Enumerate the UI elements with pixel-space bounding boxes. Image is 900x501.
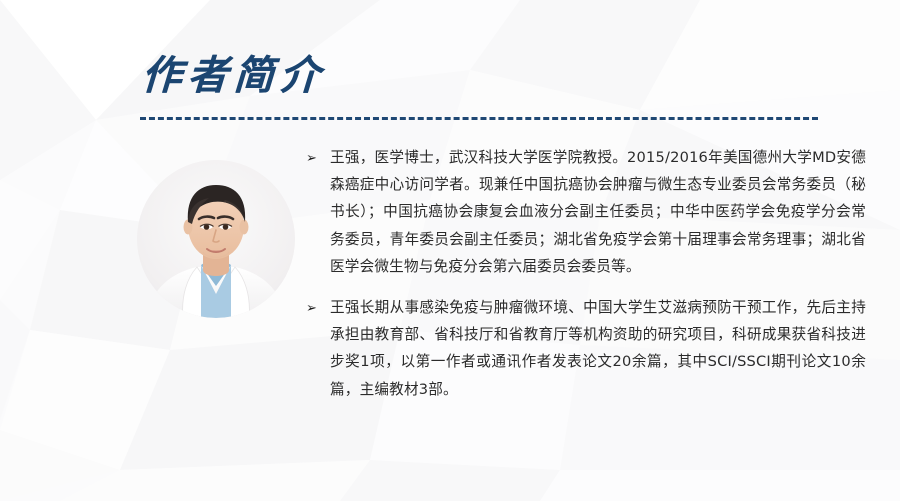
title-divider [140,117,818,120]
bio-paragraph: 王强，医学博士，武汉科技大学医学院教授。2015/2016年美国德州大学MD安德… [330,144,866,280]
author-bio-list: ➢ 王强，医学博士，武汉科技大学医学院教授。2015/2016年美国德州大学MD… [306,144,866,417]
slide-root: 作者简介 [0,0,900,501]
bio-bullet-item: ➢ 王强，医学博士，武汉科技大学医学院教授。2015/2016年美国德州大学MD… [306,144,866,280]
author-portrait-avatar [137,160,295,318]
arrow-bullet-icon: ➢ [306,294,330,321]
portrait-illustration [137,160,295,318]
bio-paragraph: 王强长期从事感染免疫与肿瘤微环境、中国大学生艾滋病预防干预工作，先后主持承担由教… [330,294,866,403]
page-title: 作者简介 [140,48,843,104]
title-block: 作者简介 [140,48,840,104]
arrow-bullet-icon: ➢ [306,144,330,171]
bio-bullet-item: ➢ 王强长期从事感染免疫与肿瘤微环境、中国大学生艾滋病预防干预工作，先后主持承担… [306,294,866,403]
